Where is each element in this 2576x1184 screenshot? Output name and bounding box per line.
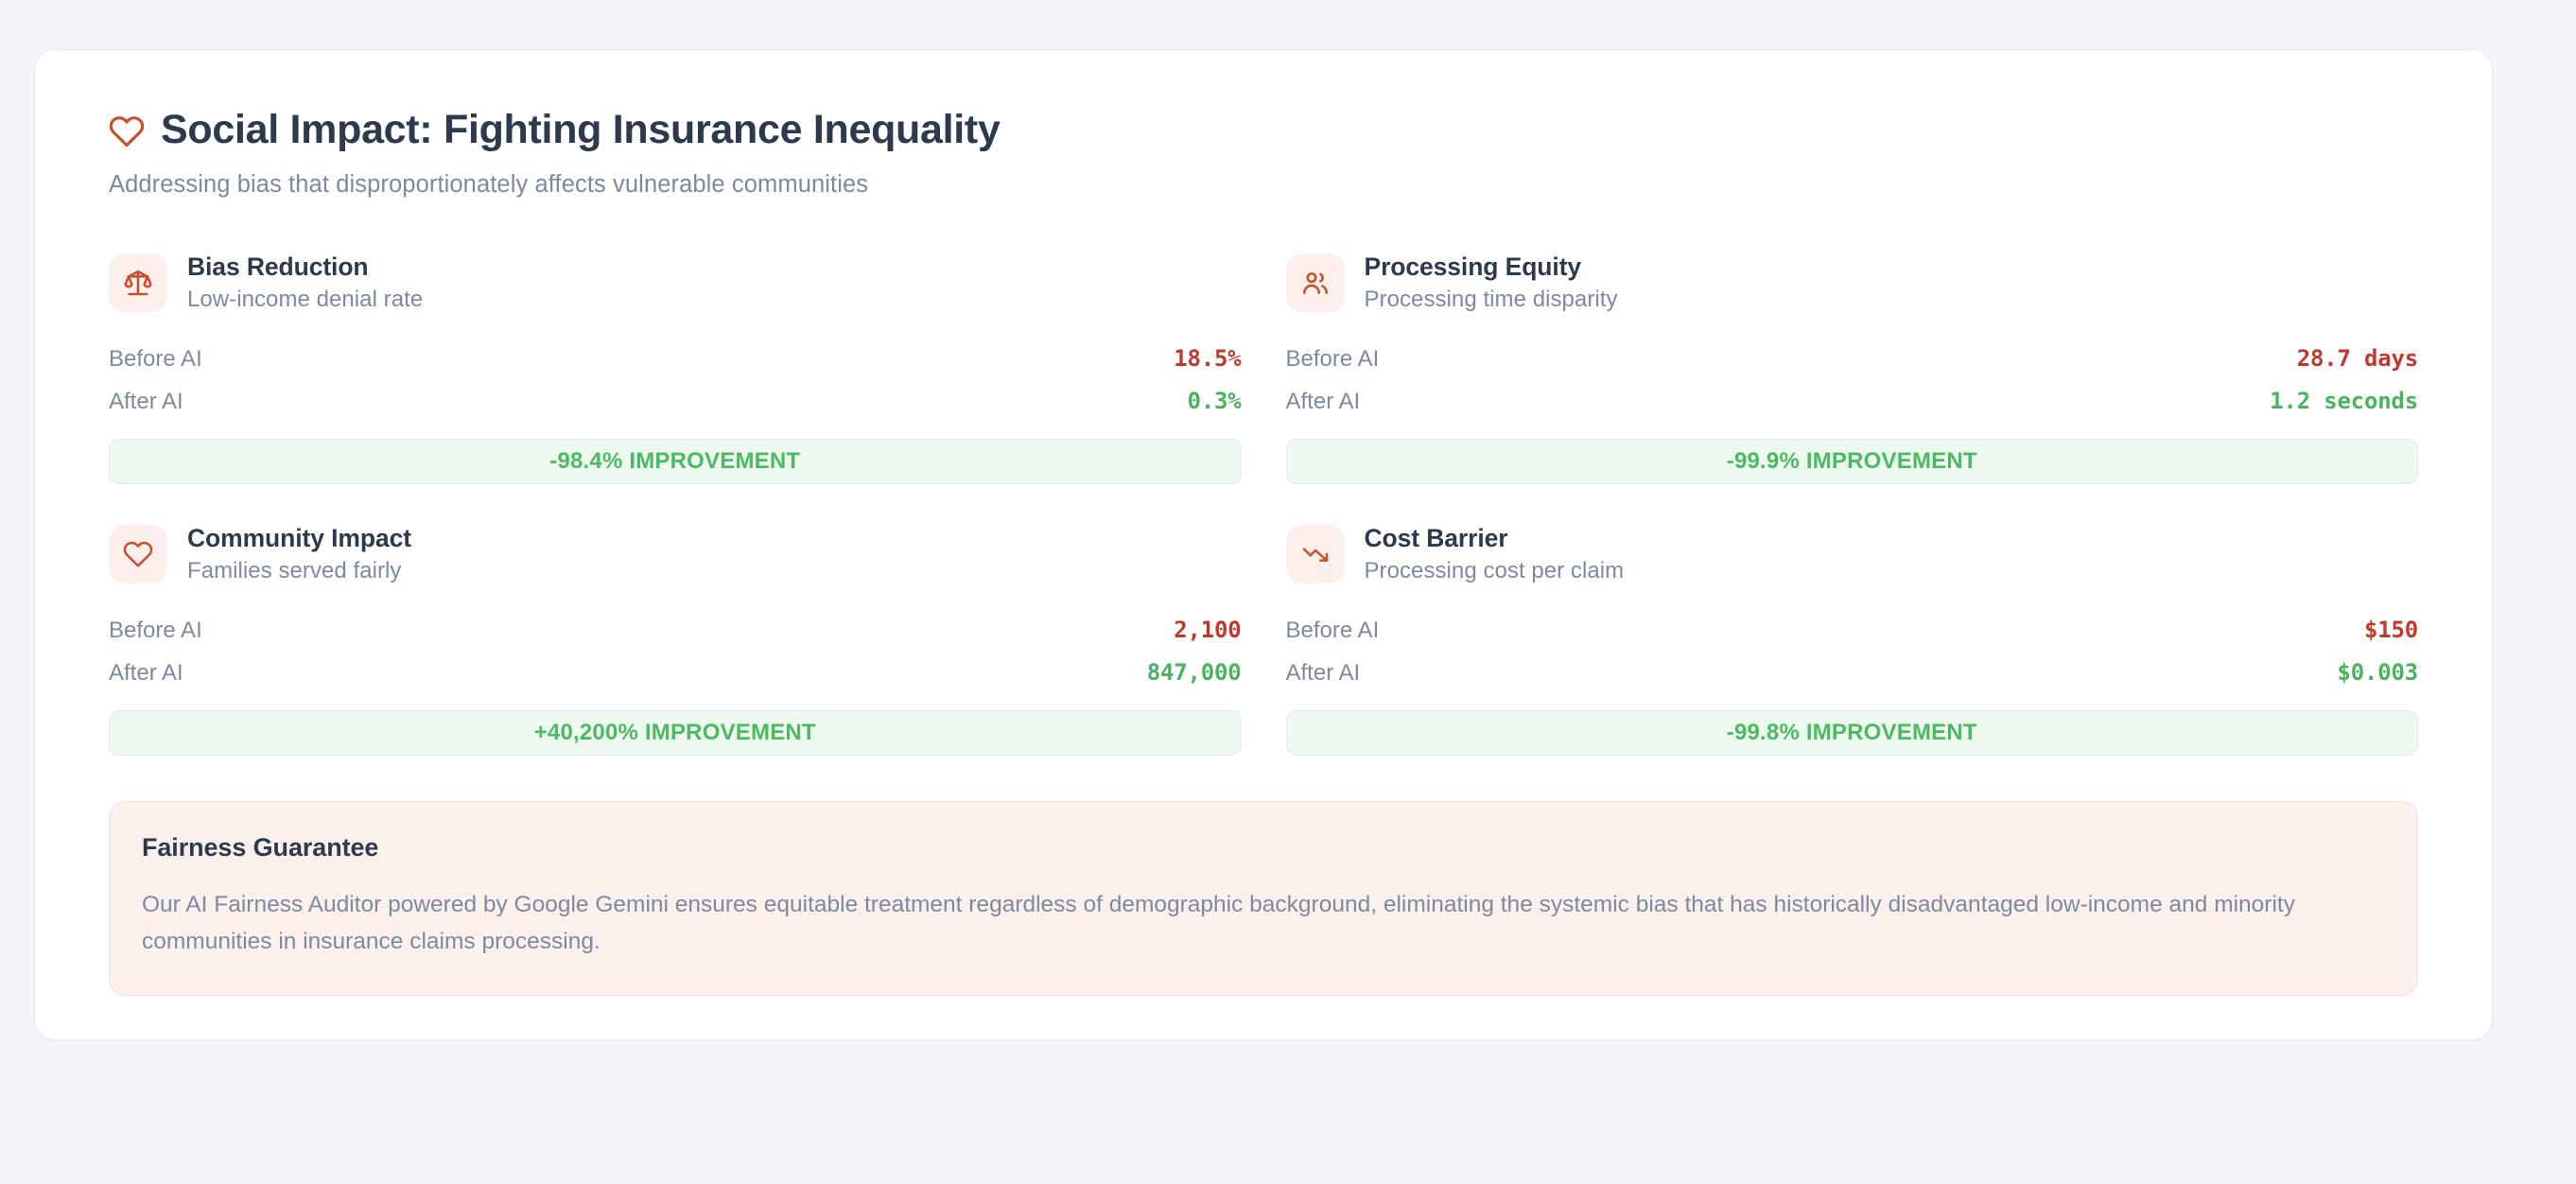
metric-header: Cost Barrier Processing cost per claim [1286, 524, 2419, 584]
metric-name: Cost Barrier [1365, 524, 1625, 553]
metric-value-before: $150 [2364, 617, 2418, 643]
metrics-grid: Bias Reduction Low-income denial rate Be… [77, 245, 2450, 756]
improvement-badge: +40,200% IMPROVEMENT [109, 710, 1242, 756]
metric-card-community-impact: Community Impact Families served fairly … [109, 516, 1242, 756]
metric-titles: Processing Equity Processing time dispar… [1365, 252, 1618, 313]
fairness-guarantee-body: Our AI Fairness Auditor powered by Googl… [142, 886, 2385, 961]
metric-value-before: 28.7 days [2297, 345, 2418, 372]
metric-name: Bias Reduction [187, 252, 423, 282]
metric-rows: Before AI 2,100 After AI 847,000 [109, 609, 1242, 694]
title-row: Social Impact: Fighting Insurance Inequa… [109, 107, 2418, 153]
metric-header: Bias Reduction Low-income denial rate [109, 252, 1242, 313]
improvement-badge-label: -99.8% IMPROVEMENT [1727, 720, 1977, 746]
metric-row-label: Before AI [1286, 346, 1380, 373]
metric-row-after: After AI 1.2 seconds [1286, 380, 2419, 423]
metric-row-label: After AI [1286, 660, 1361, 687]
improvement-badge-label: +40,200% IMPROVEMENT [534, 720, 816, 746]
page-subtitle: Addressing bias that disproportionately … [109, 169, 2418, 200]
improvement-badge: -99.8% IMPROVEMENT [1286, 710, 2419, 756]
metric-titles: Cost Barrier Processing cost per claim [1365, 524, 1625, 584]
heart-icon [109, 112, 145, 149]
metric-row-before: Before AI 18.5% [109, 338, 1242, 380]
metric-description: Processing time disparity [1365, 287, 1618, 313]
metric-value-after: $0.003 [2338, 659, 2419, 686]
metric-name: Processing Equity [1365, 252, 1618, 282]
page-title: Social Impact: Fighting Insurance Inequa… [161, 107, 1001, 153]
metric-rows: Before AI 18.5% After AI 0.3% [109, 338, 1242, 423]
users-icon [1286, 253, 1345, 312]
improvement-badge: -99.9% IMPROVEMENT [1286, 439, 2419, 484]
fairness-guarantee-box: Fairness Guarantee Our AI Fairness Audit… [109, 801, 2418, 996]
metric-rows: Before AI $150 After AI $0.003 [1286, 609, 2419, 694]
metric-value-before: 18.5% [1174, 345, 1241, 372]
metric-value-after: 0.3% [1188, 388, 1242, 414]
scales-icon [109, 253, 167, 312]
metric-titles: Bias Reduction Low-income denial rate [187, 252, 423, 313]
metric-header: Processing Equity Processing time dispar… [1286, 252, 2419, 313]
page-root: Social Impact: Fighting Insurance Inequa… [0, 0, 2576, 1184]
panel-header: Social Impact: Fighting Insurance Inequa… [77, 88, 2450, 201]
metric-titles: Community Impact Families served fairly [187, 524, 411, 584]
trending-down-icon [1286, 525, 1345, 583]
metric-description: Processing cost per claim [1365, 558, 1625, 584]
metric-row-before: Before AI 28.7 days [1286, 338, 2419, 380]
metric-name: Community Impact [187, 524, 411, 553]
metric-row-label: After AI [109, 389, 183, 415]
metric-row-label: After AI [1286, 389, 1361, 415]
metric-card-cost-barrier: Cost Barrier Processing cost per claim B… [1286, 516, 2419, 756]
improvement-badge-label: -99.9% IMPROVEMENT [1727, 448, 1977, 475]
metric-value-after: 847,000 [1147, 659, 1242, 686]
metric-description: Families served fairly [187, 558, 411, 584]
metric-row-after: After AI $0.003 [1286, 652, 2419, 694]
metric-row-after: After AI 847,000 [109, 652, 1242, 694]
metric-row-label: After AI [109, 660, 183, 687]
metric-row-before: Before AI 2,100 [109, 609, 1242, 652]
metric-card-processing-equity: Processing Equity Processing time dispar… [1286, 245, 2419, 484]
metric-value-after: 1.2 seconds [2270, 388, 2418, 414]
improvement-badge: -98.4% IMPROVEMENT [109, 439, 1242, 484]
metric-value-before: 2,100 [1174, 617, 1241, 643]
metric-card-bias-reduction: Bias Reduction Low-income denial rate Be… [109, 245, 1242, 484]
metric-row-label: Before AI [1286, 618, 1380, 644]
metric-header: Community Impact Families served fairly [109, 524, 1242, 584]
social-impact-panel: Social Impact: Fighting Insurance Inequa… [34, 49, 2493, 1040]
metric-row-after: After AI 0.3% [109, 380, 1242, 423]
metric-row-label: Before AI [109, 618, 202, 644]
metric-row-before: Before AI $150 [1286, 609, 2419, 652]
metric-row-label: Before AI [109, 346, 202, 373]
heart-icon [109, 525, 167, 583]
metric-rows: Before AI 28.7 days After AI 1.2 seconds [1286, 338, 2419, 423]
improvement-badge-label: -98.4% IMPROVEMENT [549, 448, 800, 475]
metric-description: Low-income denial rate [187, 287, 423, 313]
fairness-guarantee-title: Fairness Guarantee [142, 833, 2385, 862]
